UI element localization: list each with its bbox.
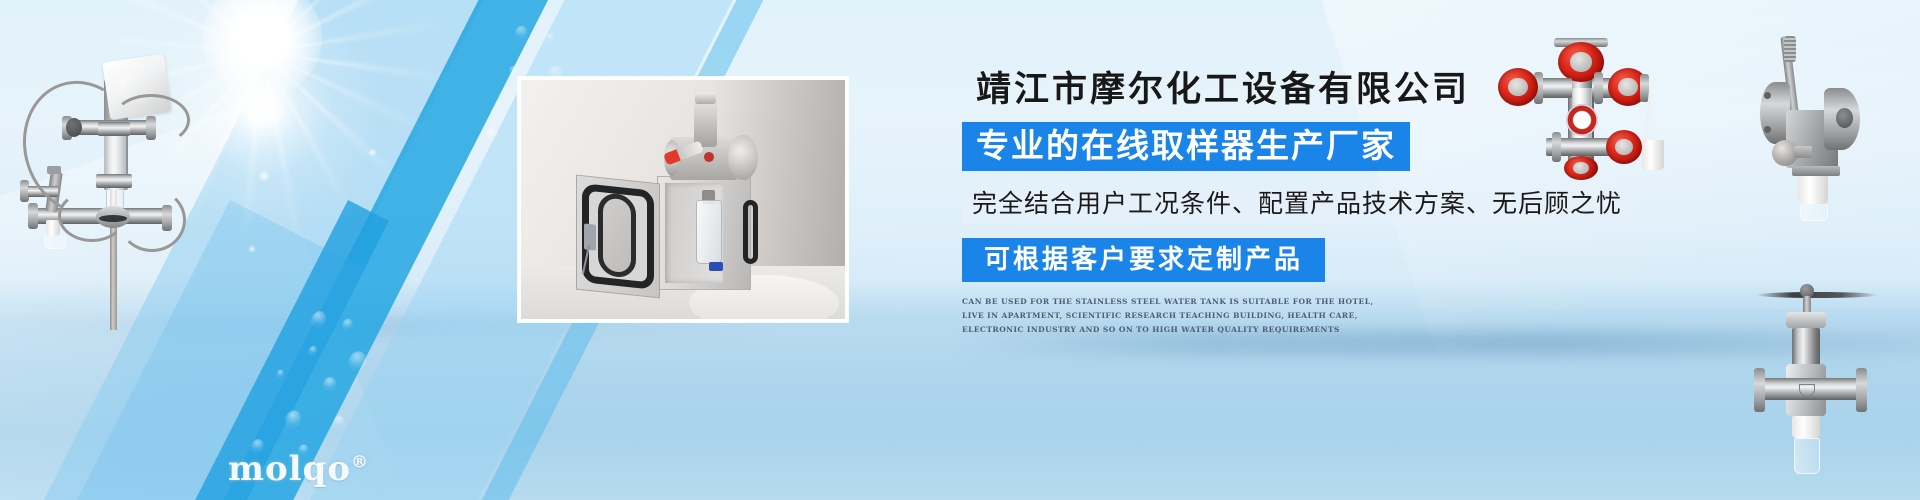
sub-headline: 完全结合用户工况条件、配置产品技术方案、无后顾之忧 — [962, 187, 1632, 224]
registered-trademark-icon: ® — [351, 453, 369, 473]
right-equipment-lever-valve — [1760, 22, 1920, 232]
right-equipment-needle-valve — [1752, 272, 1920, 477]
cabinet-door — [576, 175, 660, 299]
sun-sparkle-icon — [248, 245, 256, 253]
left-equipment-sampler — [0, 20, 220, 330]
door-lock-icon — [584, 224, 596, 251]
sample-bottle — [696, 200, 722, 264]
brand-badge-icon — [704, 152, 714, 162]
sun-sparkle-icon — [258, 170, 270, 182]
sun-sparkle-icon — [368, 148, 377, 157]
english-description: CAN BE USED FOR THE STAINLESS STEEL WATE… — [962, 295, 1382, 337]
headline-highlight: 专业的在线取样器生产厂家 — [962, 122, 1410, 171]
banner-text-block: 靖江市摩尔化工设备有限公司 专业的在线取样器生产厂家 完全结合用户工况条件、配置… — [962, 72, 1612, 337]
watermark-text: molqo — [228, 449, 351, 489]
product-photo-image — [521, 80, 845, 319]
company-name: 靖江市摩尔化工设备有限公司 — [976, 72, 1612, 107]
blue-cap — [709, 262, 724, 272]
brand-watermark: molqo® — [228, 452, 369, 486]
product-photo — [518, 77, 848, 322]
cta-highlight: 可根据客户要求定制产品 — [962, 238, 1325, 282]
cabinet-side-handle — [743, 200, 758, 265]
sun-core-icon — [202, 0, 322, 98]
promo-banner: 靖江市摩尔化工设备有限公司 专业的在线取样器生产厂家 完全结合用户工况条件、配置… — [0, 0, 1920, 500]
